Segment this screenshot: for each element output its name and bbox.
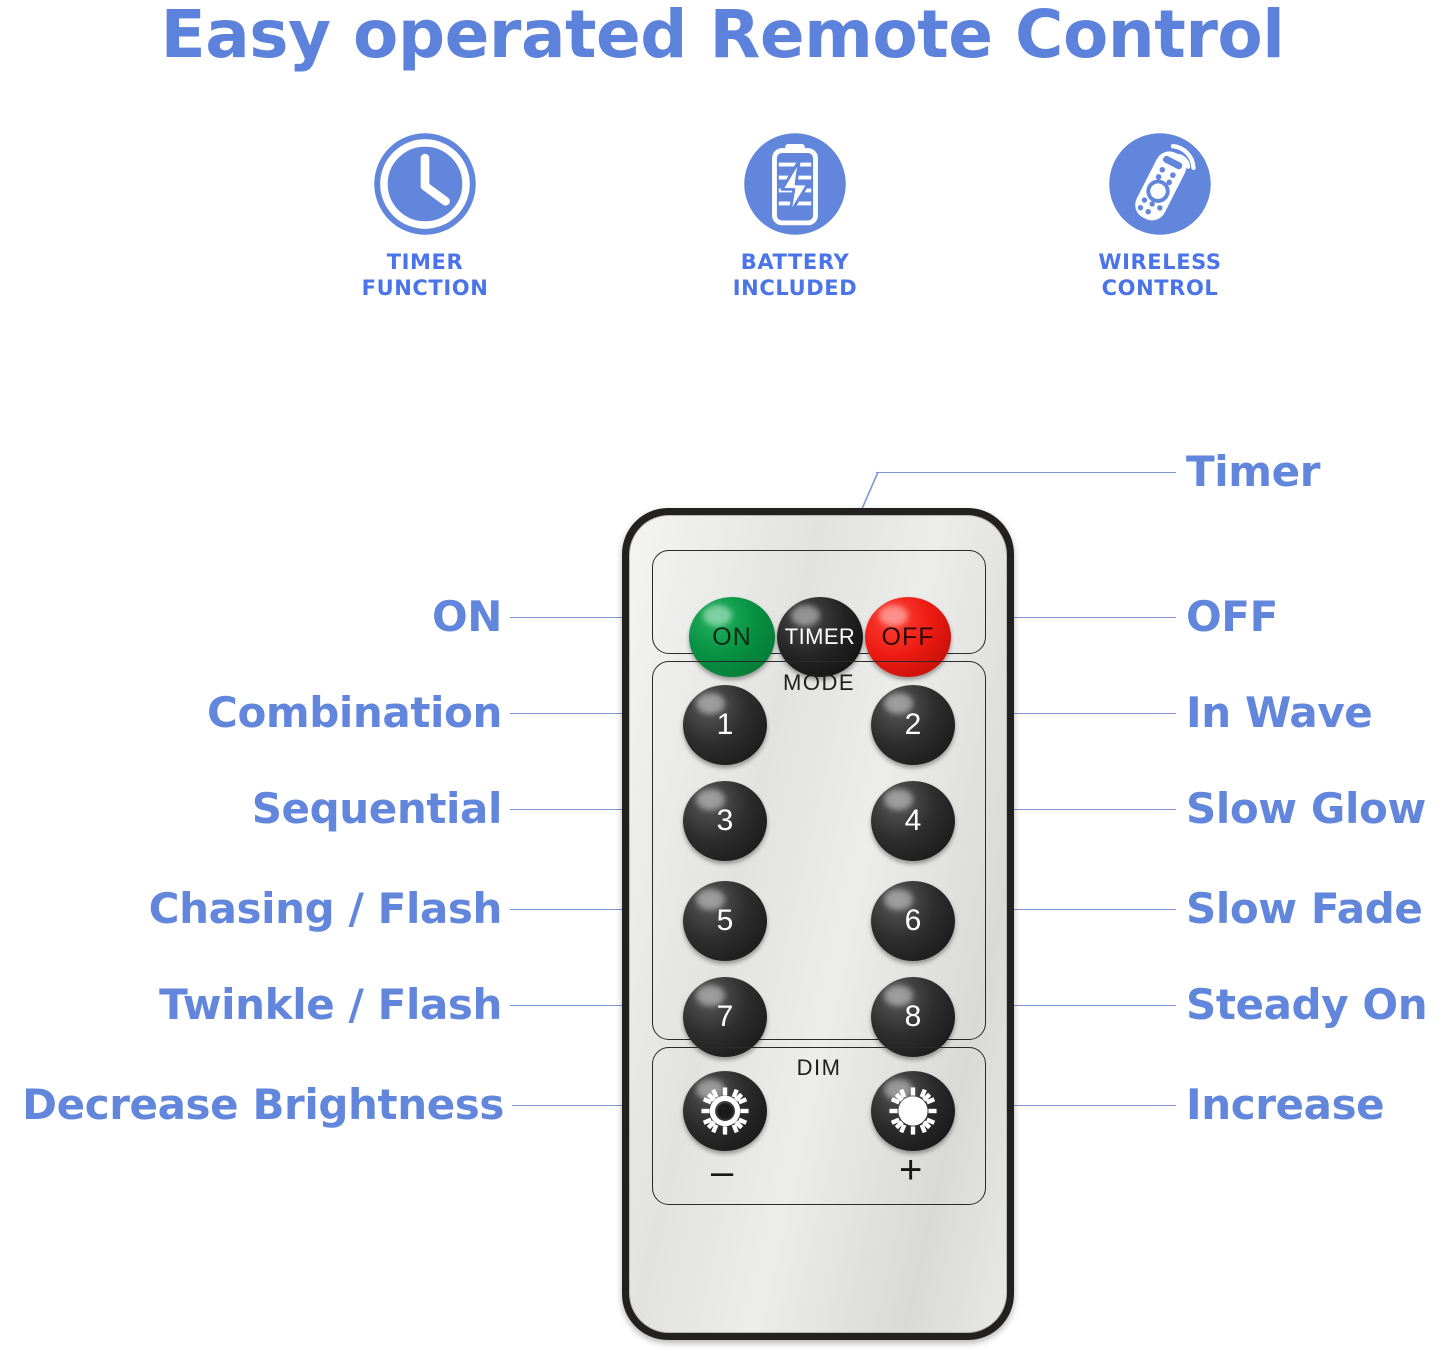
feature-timer-line1: TIMER xyxy=(295,250,555,276)
feature-wireless-control: WIRELESS CONTROL xyxy=(1030,130,1290,301)
battery-icon xyxy=(741,130,849,238)
callout-slow-glow: Slow Glow xyxy=(1186,784,1426,833)
callout-twinkle-flash: Twinkle / Flash xyxy=(10,980,502,1029)
mode-button-1-label: 1 xyxy=(717,708,734,742)
remote-control-device: ON TIMER OFF MODE 1 xyxy=(622,508,1014,1340)
mode-button-3[interactable]: 3 xyxy=(683,781,767,861)
feature-wireless-label: WIRELESS CONTROL xyxy=(1030,250,1290,301)
feature-battery-included: BATTERY INCLUDED xyxy=(665,130,925,301)
mode-button-1[interactable]: 1 xyxy=(683,685,767,765)
feature-wireless-line1: WIRELESS xyxy=(1030,250,1290,276)
feature-battery-line2: INCLUDED xyxy=(665,276,925,302)
dim-down-button[interactable] xyxy=(683,1071,767,1151)
mode-button-6-label: 6 xyxy=(905,904,922,938)
mode-button-5[interactable]: 5 xyxy=(683,881,767,961)
feature-battery-line1: BATTERY xyxy=(665,250,925,276)
mode-button-8-label: 8 xyxy=(905,1000,922,1034)
mode-button-4-label: 4 xyxy=(905,804,922,838)
feature-timer-line2: FUNCTION xyxy=(295,276,555,302)
dim-panel: DIM xyxy=(652,1047,986,1205)
feature-battery-label: BATTERY INCLUDED xyxy=(665,250,925,301)
mode-button-7[interactable]: 7 xyxy=(683,977,767,1057)
remote-faceplate: ON TIMER OFF MODE 1 xyxy=(629,515,1007,1333)
mode-button-4[interactable]: 4 xyxy=(871,781,955,861)
callout-decrease-brightness: Decrease Brightness xyxy=(4,1080,504,1129)
callout-chasing-flash: Chasing / Flash xyxy=(10,884,502,933)
dim-minus-symbol: ‒ xyxy=(711,1152,733,1192)
callout-in-wave: In Wave xyxy=(1186,688,1372,737)
feature-timer-label: TIMER FUNCTION xyxy=(295,250,555,301)
mode-button-8[interactable]: 8 xyxy=(871,977,955,1057)
callout-steady-on: Steady On xyxy=(1186,980,1427,1029)
leader-line-timer-horizontal xyxy=(876,472,1176,473)
remote-signal-icon xyxy=(1106,130,1214,238)
page-title: Easy operated Remote Control xyxy=(0,0,1445,73)
sun-dim-icon xyxy=(699,1085,751,1137)
mode-button-2-label: 2 xyxy=(905,708,922,742)
off-button-label: OFF xyxy=(882,623,935,652)
mode-button-6[interactable]: 6 xyxy=(871,881,955,961)
clock-icon xyxy=(371,130,479,238)
sun-bright-icon xyxy=(887,1085,939,1137)
feature-timer-function: TIMER FUNCTION xyxy=(295,130,555,301)
callout-off: OFF xyxy=(1186,592,1278,641)
callout-slow-fade: Slow Fade xyxy=(1186,884,1422,933)
mode-button-7-label: 7 xyxy=(717,1000,734,1034)
mode-button-3-label: 3 xyxy=(717,804,734,838)
callout-combination: Combination xyxy=(10,688,502,737)
callout-increase: Increase xyxy=(1186,1080,1384,1129)
callout-on: ON xyxy=(10,592,502,641)
callout-sequential: Sequential xyxy=(10,784,502,833)
dim-up-button[interactable] xyxy=(871,1071,955,1151)
feature-wireless-line2: CONTROL xyxy=(1030,276,1290,302)
power-panel: ON TIMER OFF xyxy=(652,550,986,654)
mode-button-5-label: 5 xyxy=(717,904,734,938)
on-button-label: ON xyxy=(712,623,752,652)
button-glint xyxy=(791,605,820,626)
timer-button-label: TIMER xyxy=(785,624,855,650)
infographic-page: Easy operated Remote Control TIMER FUNCT… xyxy=(0,0,1445,1351)
dim-plus-symbol: + xyxy=(899,1150,922,1190)
mode-panel: MODE 1 2 3 4 xyxy=(652,661,986,1040)
callout-timer: Timer xyxy=(1186,447,1320,496)
mode-button-2[interactable]: 2 xyxy=(871,685,955,765)
